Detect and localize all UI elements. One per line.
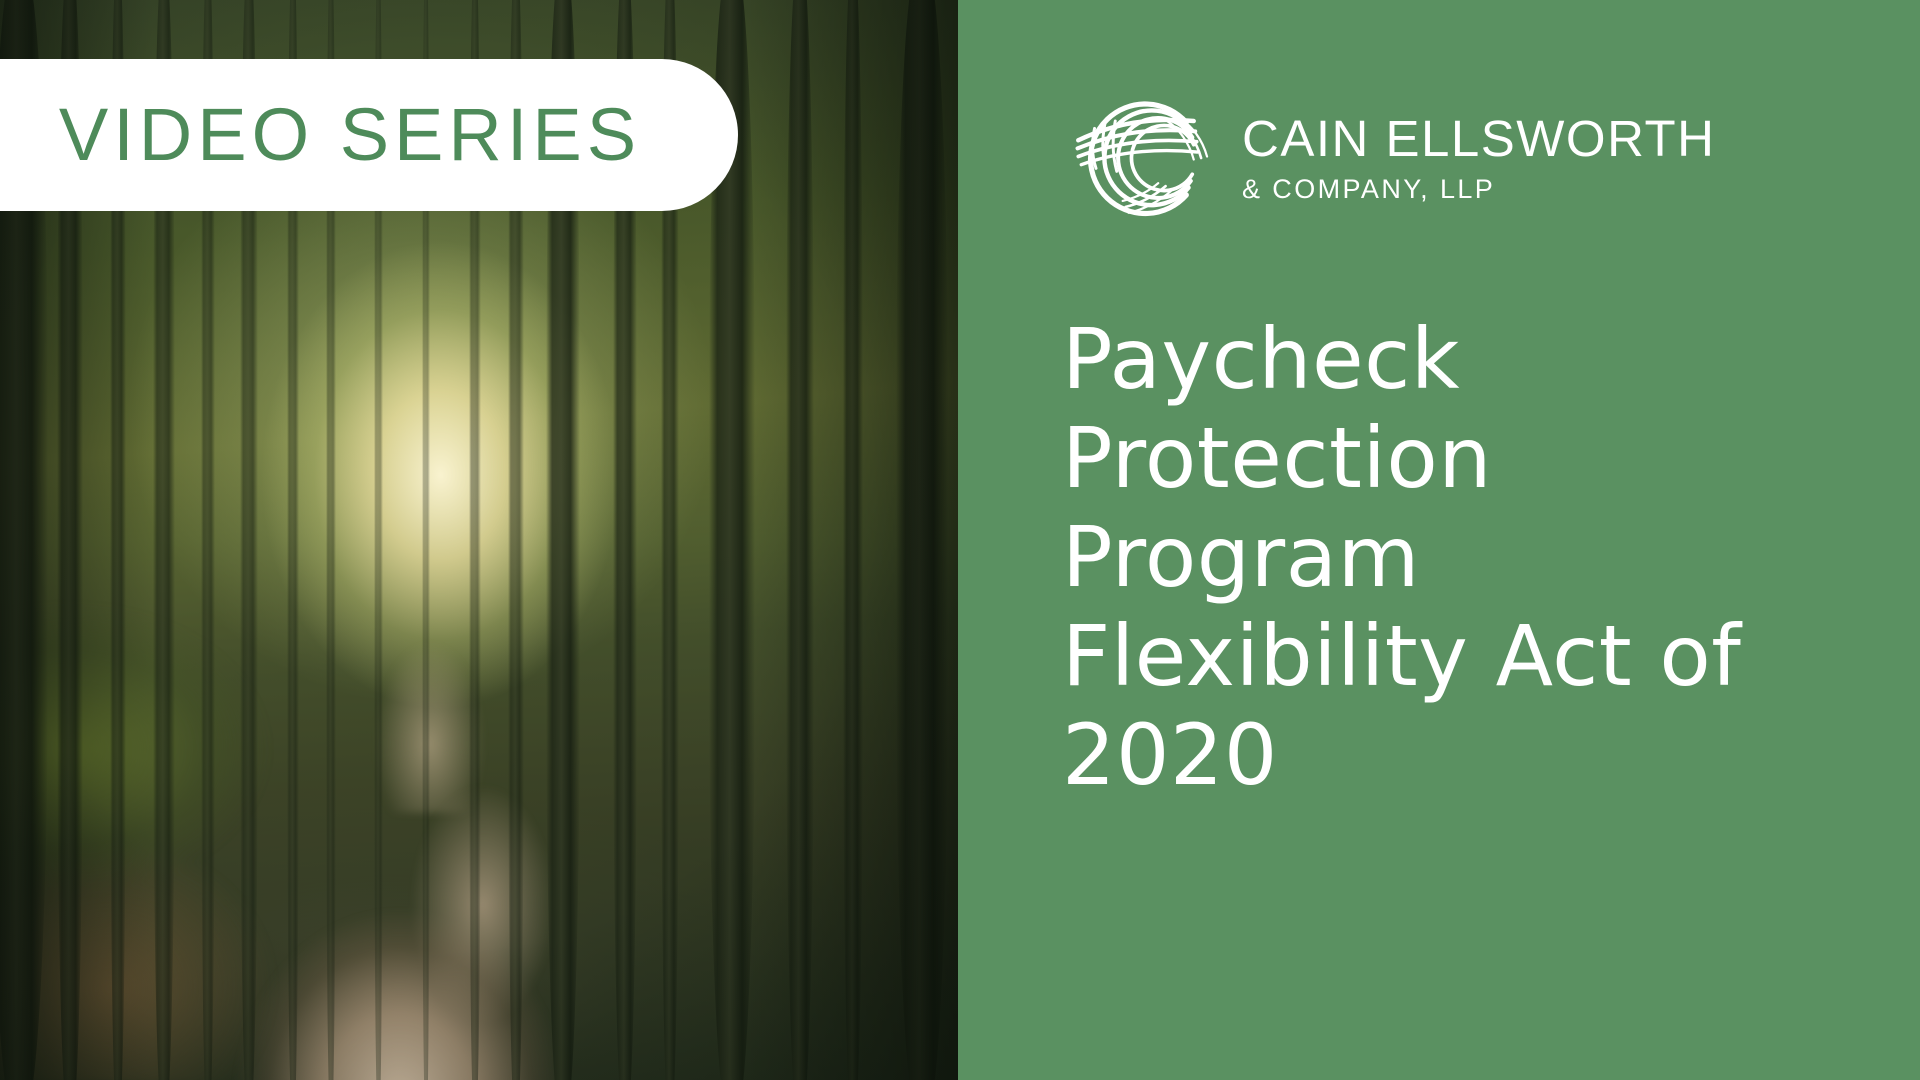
brand-subtitle: & COMPANY, LLP <box>1242 172 1715 207</box>
brand-lockup: CAIN ELLSWORTH & COMPANY, LLP <box>1062 84 1830 232</box>
page-title: Paycheck Protection Program Flexibility … <box>1062 310 1830 806</box>
cain-ellsworth-logo-icon <box>1062 84 1210 232</box>
video-series-banner: VIDEO SERIES <box>0 59 738 211</box>
headline-line: 2020 <box>1062 706 1278 804</box>
title-card: VIDEO SERIES <box>0 0 1920 1080</box>
forest-photo-pane: VIDEO SERIES <box>0 0 958 1080</box>
video-series-label: VIDEO SERIES <box>59 98 641 172</box>
green-content-pane: CAIN ELLSWORTH & COMPANY, LLP Paycheck P… <box>958 0 1920 1080</box>
brand-name: CAIN ELLSWORTH <box>1242 113 1715 165</box>
headline-line: Paycheck <box>1062 310 1460 408</box>
headline-line: Program <box>1062 508 1420 606</box>
headline-line: Flexibility Act of <box>1062 607 1741 705</box>
brand-text: CAIN ELLSWORTH & COMPANY, LLP <box>1242 109 1715 207</box>
headline-line: Protection <box>1062 409 1492 507</box>
